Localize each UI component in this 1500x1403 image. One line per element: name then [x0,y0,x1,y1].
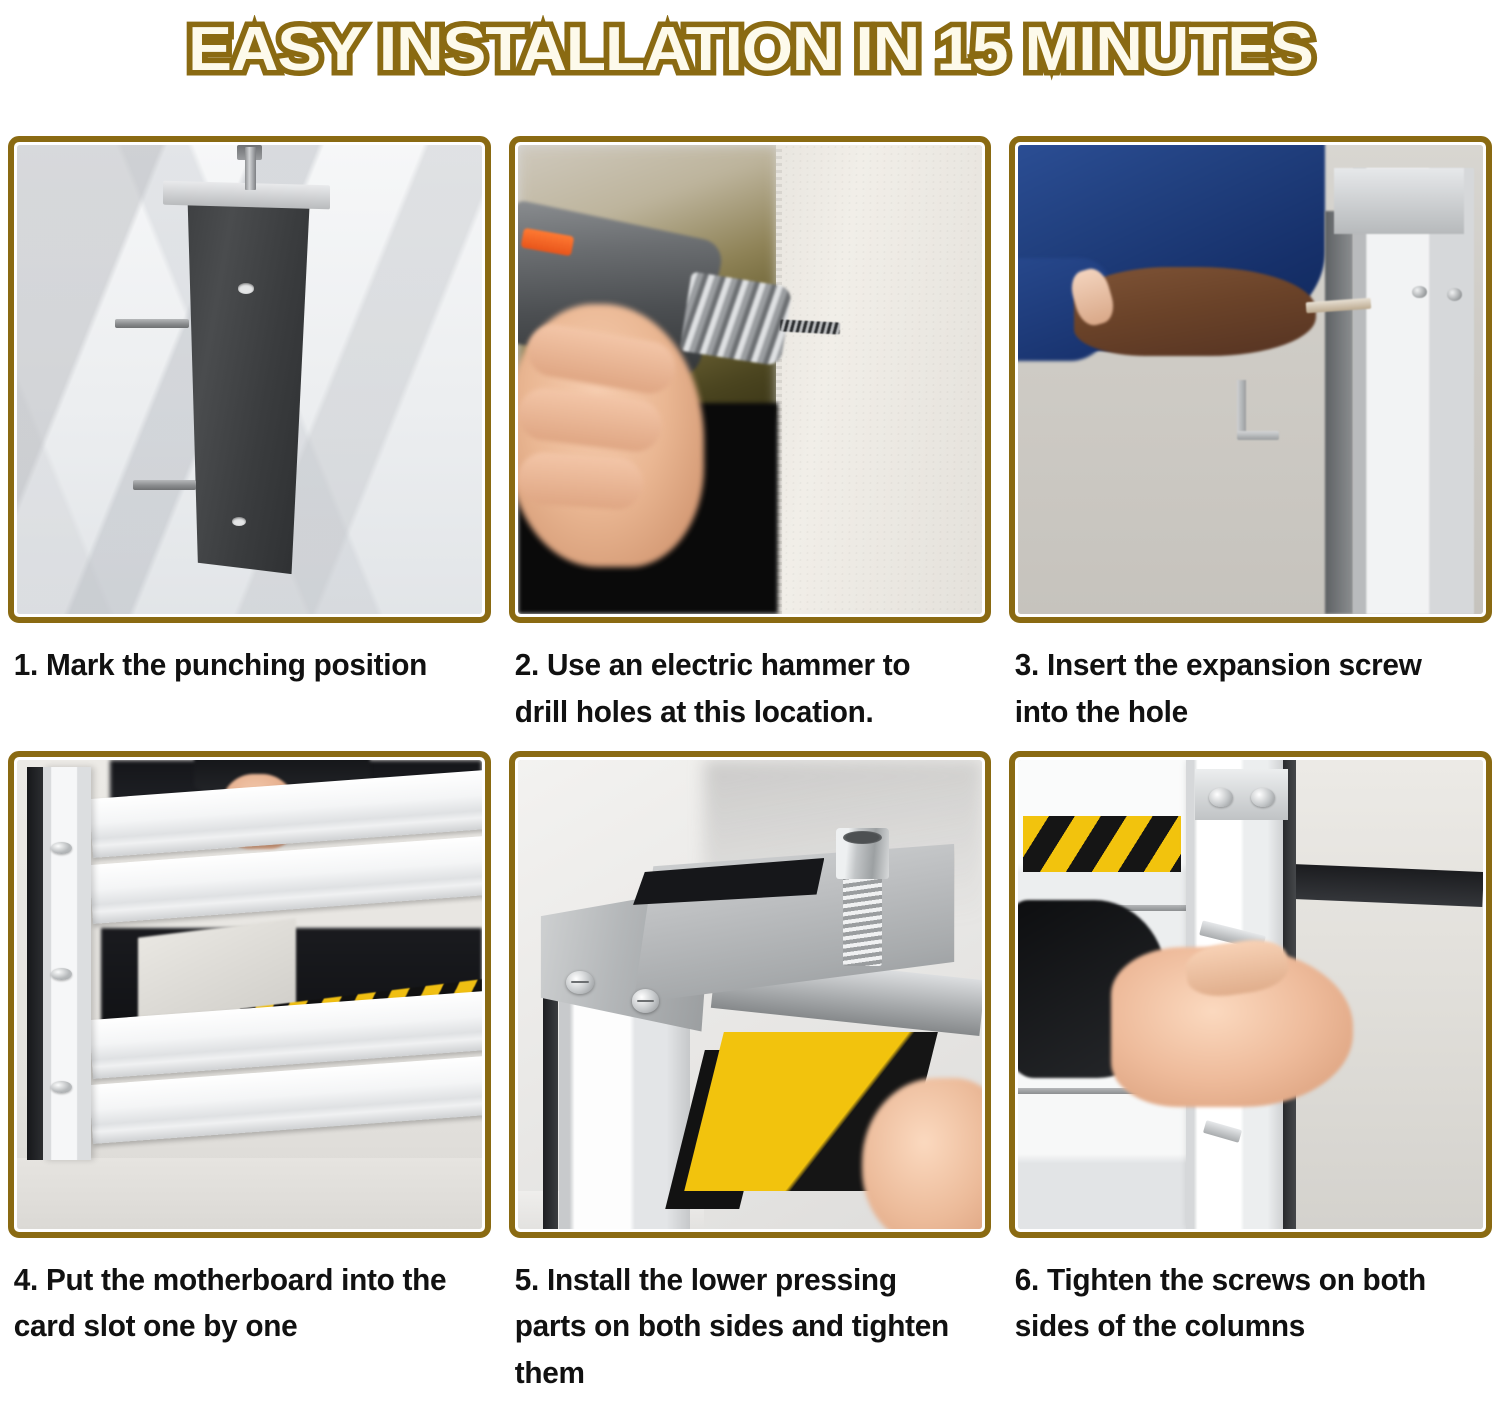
column-screw-top [51,842,72,854]
step-card-4: 4. Put the motherboard into the card slo… [8,751,491,1397]
marking-rod-upper [115,319,189,328]
step-card-1: 1. Mark the punching position [8,136,491,745]
finger-lower [518,450,645,510]
mounting-hole-lower [232,517,246,526]
post-dark-edge [27,767,43,1161]
step-card-6: 6. Tighten the screws on both sides of t… [1009,751,1492,1397]
step-card-5: 5. Install the lower pressing parts on b… [509,751,992,1397]
step-caption-5: 5. Install the lower pressing parts on b… [509,1257,972,1397]
installation-guide-page: EASY INSTALLATION IN 15 MINUTES 1. Mark … [0,0,1500,1403]
step-caption-4: 4. Put the motherboard into the card slo… [8,1257,471,1350]
step-photo-frame-4 [8,751,491,1238]
step-photo-2 [518,145,983,614]
step-photo-frame-5 [509,751,992,1238]
step-photo-frame-1 [8,136,491,623]
column-shadow-edge [1325,211,1353,614]
step-photo-6 [1018,760,1483,1229]
step-caption-3: 3. Insert the expansion screw into the h… [1009,642,1472,735]
step-photo-5 [518,760,983,1229]
column-screw-bottom [51,1081,72,1093]
white-textured-wall [778,145,982,614]
step-caption-1: 1. Mark the punching position [8,642,471,689]
allen-wrench-on-floor [1237,380,1246,441]
top-screw-right [1251,788,1275,808]
step-caption-6: 6. Tighten the screws on both sides of t… [1009,1257,1472,1350]
title-banner: EASY INSTALLATION IN 15 MINUTES [0,0,1500,100]
bracket-screw-left [566,971,594,994]
drill-chuck [679,271,792,366]
hazard-stripe-tape [1023,816,1181,872]
step-photo-frame-3 [1009,136,1492,623]
step-photo-frame-6 [1009,751,1492,1238]
step-photo-1 [17,145,482,614]
thumb-screw-head [836,828,889,880]
step-card-3: 3. Insert the expansion screw into the h… [1009,136,1492,745]
step-photo-3 [1018,145,1483,614]
column-dark-edge [543,994,558,1229]
card-slot-column [43,767,92,1161]
dark-column-body [180,194,310,574]
thumb-screw-thread [843,872,882,966]
column-bracket-cap [1334,168,1464,234]
column-bolt-right [1447,288,1462,301]
marking-rod-lower [133,480,196,489]
page-title: EASY INSTALLATION IN 15 MINUTES [188,19,1313,81]
bracket-screw-right [632,989,660,1012]
top-screw-left [1209,788,1233,808]
step-photo-frame-2 [509,136,992,623]
steps-grid: 1. Mark the punching position [8,136,1492,1396]
top-stud-rod [245,147,256,189]
floor-surface [17,1158,482,1228]
aluminum-column [1353,168,1474,614]
step-photo-4 [17,760,482,1229]
step-card-2: 2. Use an electric hammer to drill holes… [509,136,992,745]
step-caption-2: 2. Use an electric hammer to drill holes… [509,642,972,735]
